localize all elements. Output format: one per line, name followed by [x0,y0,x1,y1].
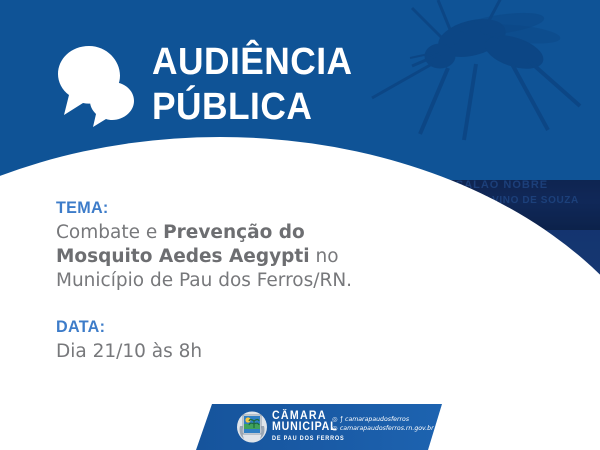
footer-contact: ◎ ƒ camarapaudosferros ◎ camarapaudosfer… [332,415,434,433]
tema-line2-bold: Mosquito Aedes Aegypti [56,246,310,267]
tema-label: TEMA: [56,198,379,218]
title-line-2: PÚBLICA [152,85,353,130]
poster-canvas: SALÃO NOBRE ANTONIO ALVINO DE SOUZA [0,0,600,450]
tema-line2-plain: no [310,246,339,267]
social-handle: camarapaudosferros [345,415,409,424]
contact-social[interactable]: ◎ ƒ camarapaudosferros [332,415,434,424]
website-url: camarapaudosferros.rn.gov.br [340,424,434,433]
social-icons: ◎ ƒ [332,415,343,424]
data-value: Dia 21/10 às 8h [56,340,396,364]
tema-line1-plain: Combate e [56,222,163,243]
title-line-1: AUDIÊNCIA [152,40,353,85]
poster-title: AUDIÊNCIA PÚBLICA [152,40,353,130]
tema-text: Combate e Prevenção doMosquito Aedes Aeg… [56,221,396,293]
footer-brand-line-3: DE PAU DOS FERROS [272,434,345,445]
contact-website[interactable]: ◎ camarapaudosferros.rn.gov.br [332,424,434,433]
content-spacer [56,293,396,317]
globe-icon: ◎ [332,424,338,433]
tema-line1-bold: Prevenção do [163,222,305,243]
content-block: TEMA: Combate e Prevenção doMosquito Aed… [56,198,396,364]
coat-of-arms-icon [236,410,268,443]
mosquito-icon [352,0,600,154]
tema-line3: Município de Pau dos Ferros/RN. [56,270,352,291]
speech-bubbles-icon [56,42,144,130]
data-label: DATA: [56,317,379,337]
